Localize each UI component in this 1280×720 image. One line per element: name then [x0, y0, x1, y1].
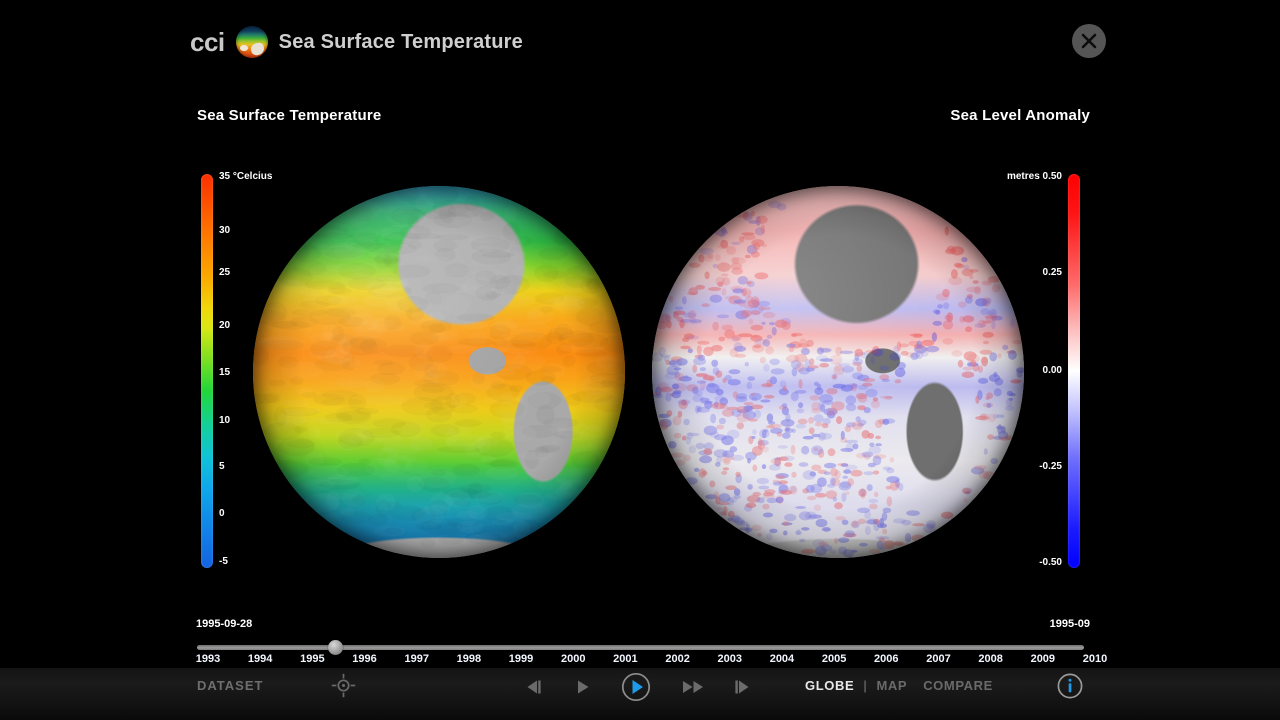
sst-tick-0: 0	[219, 509, 225, 519]
sla-tick-neg025: -0.25	[1039, 462, 1062, 472]
play-reverse-icon	[574, 679, 592, 695]
sla-texture	[652, 186, 1024, 558]
cci-globe-logo-icon	[236, 26, 268, 58]
panel-title-left: Sea Surface Temperature	[197, 107, 381, 124]
timeline-year-2004[interactable]: 2004	[770, 654, 794, 665]
timeline-year-1996[interactable]: 1996	[352, 654, 376, 665]
globe-sea-surface-temperature[interactable]	[253, 186, 625, 558]
sst-tick-15: 15	[219, 368, 230, 378]
brand-short-label: cci	[190, 29, 225, 55]
page-title: Sea Surface Temperature	[279, 32, 523, 52]
sst-colorbar-gradient	[201, 174, 213, 568]
sla-tick-050: metres 0.50	[1007, 172, 1062, 182]
app-root: cci Sea Surface Temperature Sea Surface …	[0, 0, 1280, 720]
timeline-year-2001[interactable]: 2001	[613, 654, 637, 665]
panel-title-right: Sea Level Anomaly	[950, 107, 1090, 124]
timeline-year-2002[interactable]: 2002	[665, 654, 689, 665]
timeline-year-1995[interactable]: 1995	[300, 654, 324, 665]
playback-controls	[520, 672, 770, 702]
sst-tick-5: 5	[219, 462, 225, 472]
dataset-button[interactable]: DATASET	[197, 678, 263, 693]
bottom-toolbar: DATASET	[0, 668, 1280, 720]
play-icon	[621, 672, 651, 702]
play-button[interactable]	[620, 672, 652, 702]
globe-limb-sst	[253, 186, 625, 558]
sst-tick-10: 10	[219, 416, 230, 426]
info-icon	[1057, 673, 1083, 699]
crosshair-target-button[interactable]	[331, 673, 356, 698]
brand: cci Sea Surface Temperature	[190, 26, 523, 58]
timeline-year-1993[interactable]: 1993	[196, 654, 220, 665]
sst-tick-30: 30	[219, 226, 230, 236]
timeline-year-1994[interactable]: 1994	[248, 654, 272, 665]
sst-colorbar: 35 °Celcius 30 25 20 15 10 5 0 -5	[201, 174, 213, 568]
info-button[interactable]	[1057, 673, 1083, 699]
view-mode-map[interactable]: MAP	[876, 678, 907, 693]
view-mode-separator: |	[863, 678, 867, 693]
sla-tick-025: 0.25	[1043, 268, 1062, 278]
timeline-year-2000[interactable]: 2000	[561, 654, 585, 665]
timeline-year-2010[interactable]: 2010	[1083, 654, 1107, 665]
sla-colorbar-gradient	[1068, 174, 1080, 568]
globe-sea-level-anomaly[interactable]	[652, 186, 1024, 558]
play-reverse-button[interactable]	[568, 672, 598, 702]
view-mode-compare[interactable]: COMPARE	[923, 678, 993, 693]
sst-texture	[253, 186, 625, 558]
close-icon	[1072, 24, 1106, 58]
right-date-label: 1995-09	[1050, 618, 1090, 630]
globe-shading-sla	[652, 186, 1024, 558]
timeline-year-2007[interactable]: 2007	[926, 654, 950, 665]
sla-colorbar: metres 0.50 0.25 0.00 -0.25 -0.50	[1068, 174, 1080, 568]
timeline-year-2009[interactable]: 2009	[1031, 654, 1055, 665]
sst-tick-35: 35 °Celcius	[219, 172, 272, 182]
timeline-slider-thumb[interactable]	[328, 640, 343, 655]
step-backward-icon	[525, 679, 545, 695]
step-forward-icon	[731, 679, 751, 695]
timeline-year-1998[interactable]: 1998	[457, 654, 481, 665]
view-mode-switch: GLOBE | MAP COMPARE	[805, 678, 993, 693]
timeline-year-1997[interactable]: 1997	[404, 654, 428, 665]
view-mode-globe[interactable]: GLOBE	[805, 678, 854, 693]
step-backward-button[interactable]	[520, 672, 550, 702]
sla-tick-000: 0.00	[1043, 366, 1062, 376]
timeline-year-2003[interactable]: 2003	[718, 654, 742, 665]
app-header: cci Sea Surface Temperature	[0, 0, 1280, 82]
timeline-slider[interactable]	[197, 645, 1084, 650]
fast-forward-button[interactable]	[677, 672, 711, 702]
sst-tick-25: 25	[219, 268, 230, 278]
current-date-label: 1995-09-28	[196, 618, 252, 630]
sla-tick-neg050: -0.50	[1039, 558, 1062, 568]
timeline-year-2006[interactable]: 2006	[874, 654, 898, 665]
globe-shading-sst	[253, 186, 625, 558]
sst-tick-neg5: -5	[219, 557, 228, 567]
timeline-year-2008[interactable]: 2008	[978, 654, 1002, 665]
timeline-year-1999[interactable]: 1999	[509, 654, 533, 665]
globe-limb-sla	[652, 186, 1024, 558]
close-button[interactable]	[1072, 24, 1106, 58]
crosshair-target-icon	[331, 673, 356, 698]
sst-tick-20: 20	[219, 321, 230, 331]
step-forward-button[interactable]	[726, 672, 756, 702]
fast-forward-icon	[681, 679, 707, 695]
timeline-year-2005[interactable]: 2005	[822, 654, 846, 665]
